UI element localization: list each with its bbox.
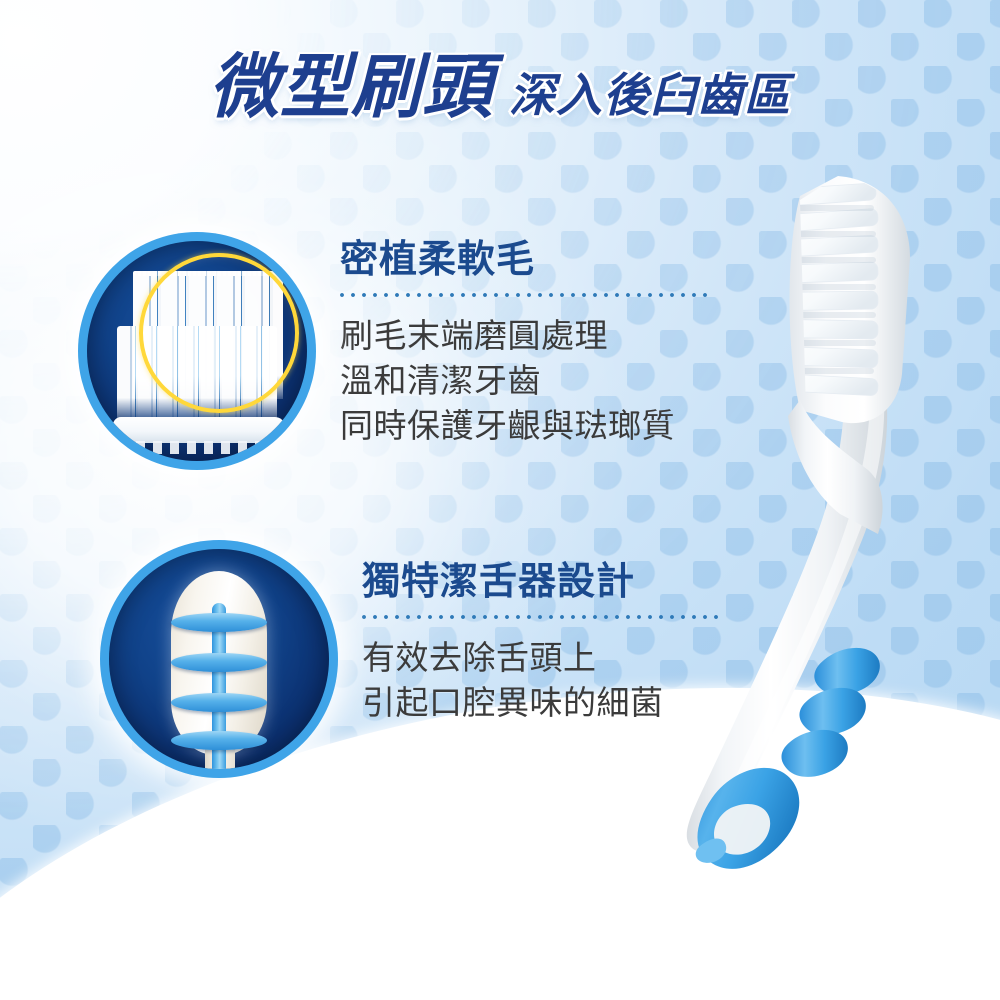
bristle-macro-icon: [87, 241, 307, 461]
tongue-cleaner-rib: [171, 693, 267, 712]
feature-heading: 獨特潔舌器設計: [362, 562, 718, 604]
brush-head-base: [113, 417, 285, 443]
title-main: 微型刷頭: [209, 52, 493, 122]
tongue-cleaner-rib: [171, 653, 267, 672]
feature-body-line: 刷毛末端磨圓處理: [340, 313, 712, 358]
feature-body-line: 同時保護牙齦與琺瑯質: [340, 403, 712, 448]
title-sub: 深入後臼齒區: [509, 72, 791, 118]
feature-body-line: 溫和清潔牙齒: [340, 358, 712, 403]
feature-body-line: 有效去除舌頭上: [362, 635, 718, 680]
feature-divider: [362, 615, 718, 619]
feature-heading: 密植柔軟毛: [340, 240, 712, 282]
tongue-cleaner-rib: [171, 613, 267, 632]
poster-title: 微型刷頭 深入後臼齒區: [0, 52, 1000, 122]
feature-body: 有效去除舌頭上 引起口腔異味的細菌: [362, 635, 718, 725]
tongue-cleaner-rib: [171, 731, 267, 750]
feature-body: 刷毛末端磨圓處理 溫和清潔牙齒 同時保護牙齦與琺瑯質: [340, 313, 712, 448]
feature-block-tongue-cleaner: 獨特潔舌器設計 有效去除舌頭上 引起口腔異味的細菌: [100, 540, 718, 778]
feature-badge-bristle: [78, 232, 316, 470]
feature-body-line: 引起口腔異味的細菌: [362, 680, 718, 725]
tongue-cleaner-icon: [109, 549, 329, 769]
feature-block-dense-soft-bristles: 密植柔軟毛 刷毛末端磨圓處理 溫和清潔牙齒 同時保護牙齦與琺瑯質: [78, 232, 712, 470]
feature-divider: [340, 293, 712, 297]
magnifier-circle-icon: [139, 253, 299, 413]
product-feature-poster: 微型刷頭 深入後臼齒區 密植柔軟毛 刷毛末端磨圓處理 溫和清潔牙齒 同時保護牙齦…: [0, 0, 1000, 1000]
feature-badge-tongue-cleaner: [100, 540, 338, 778]
